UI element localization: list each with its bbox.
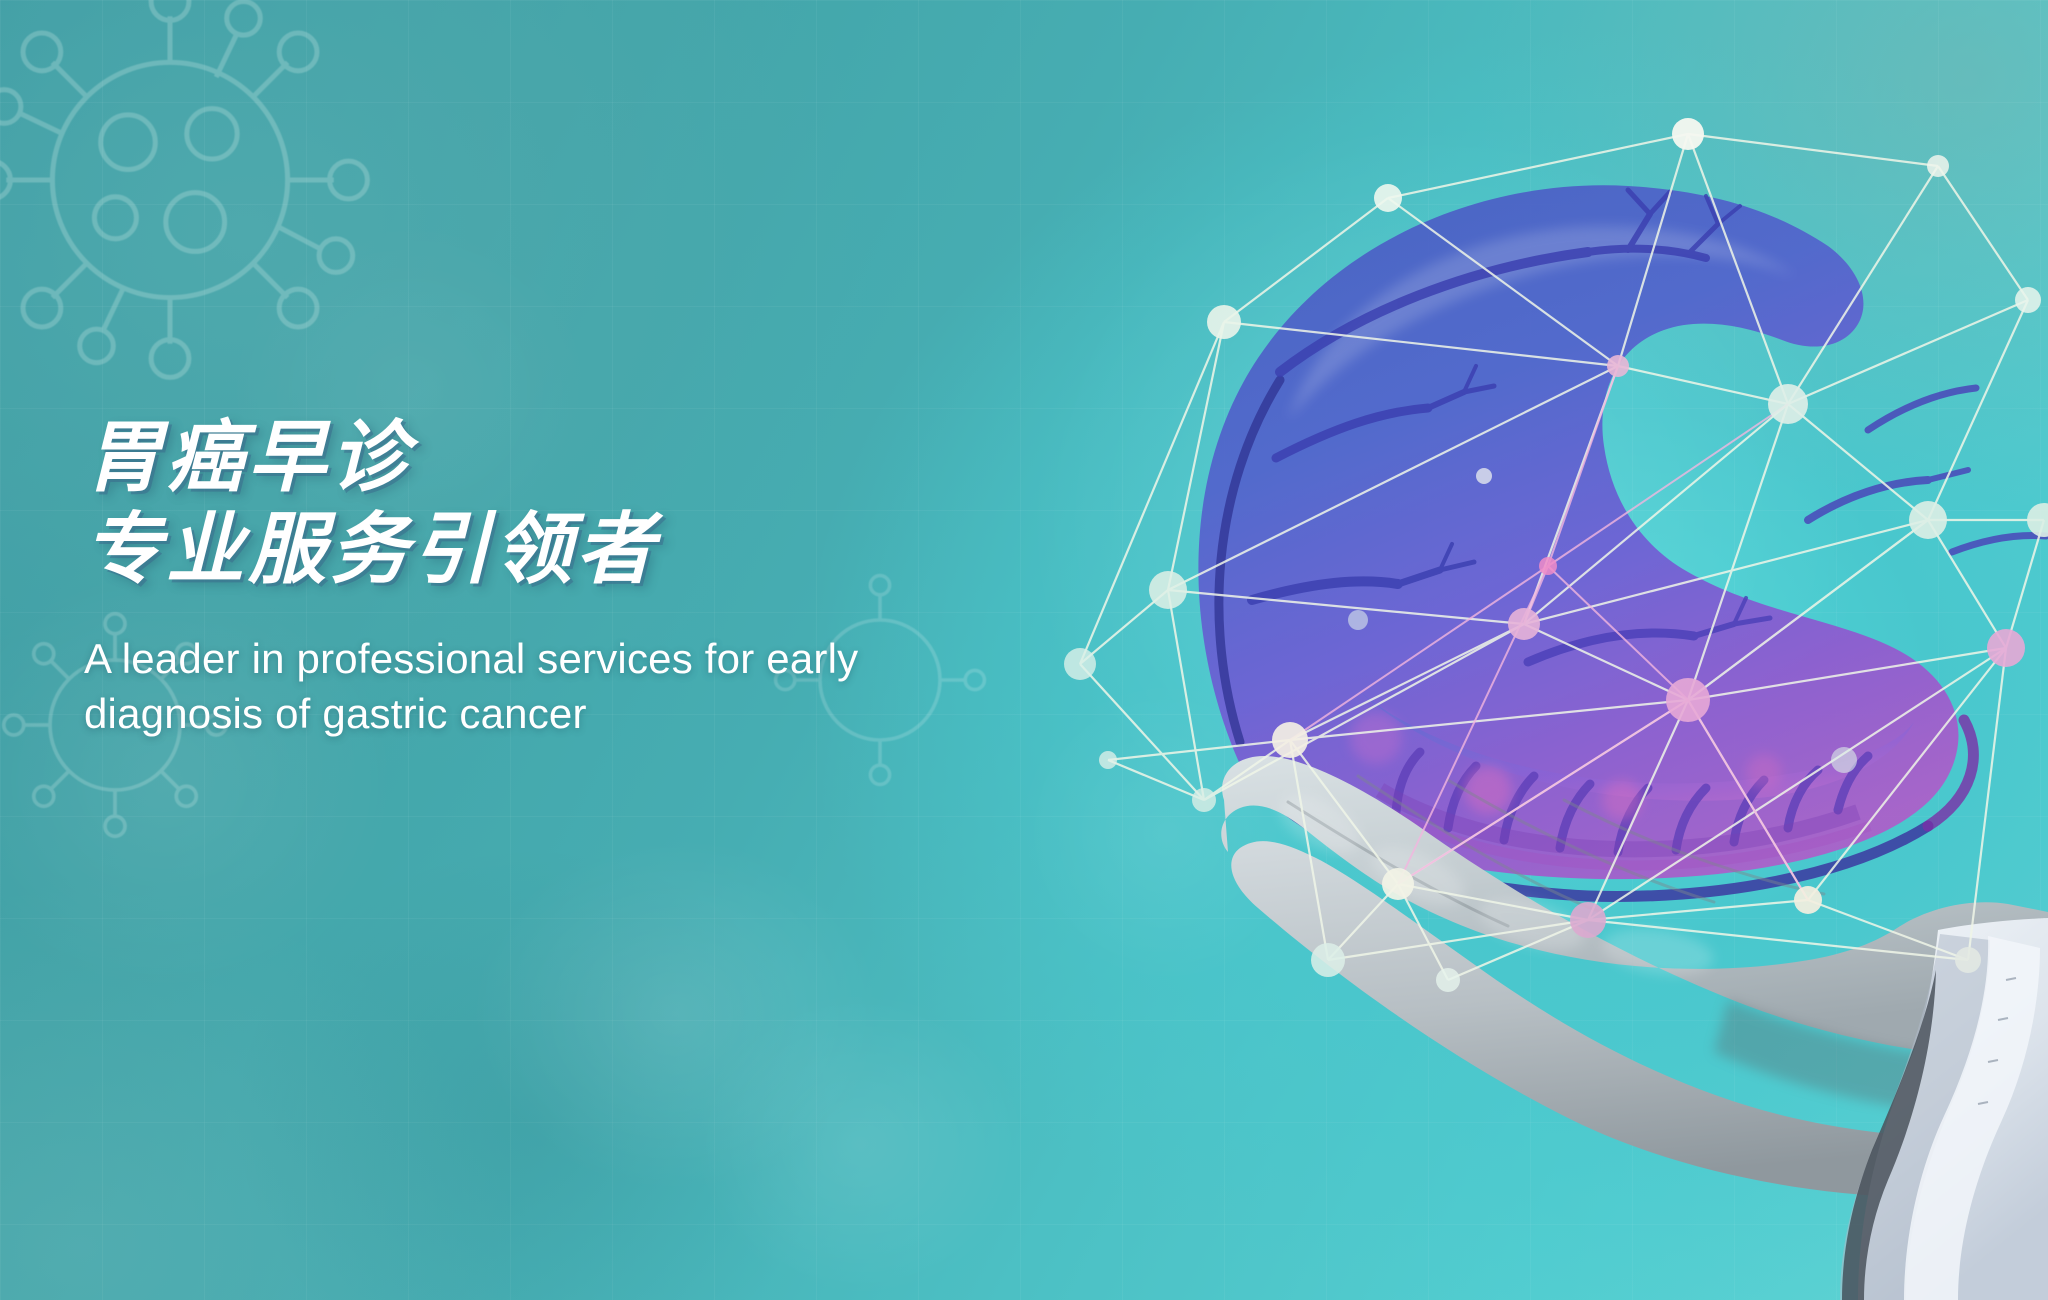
banner-root: 胃癌早诊 专业服务引领者 A leader in professional se…	[0, 0, 2048, 1300]
coronavirus-icon	[0, 0, 380, 370]
subheadline-line-1: A leader in professional services for ea…	[84, 632, 984, 687]
subheadline-line-2: diagnosis of gastric cancer	[84, 687, 984, 742]
headline-line-1: 胃癌早诊	[84, 418, 984, 496]
subheadline-block: A leader in professional services for ea…	[84, 632, 984, 741]
headline-line-2: 专业服务引领者	[84, 510, 984, 588]
headline-block: 胃癌早诊 专业服务引领者 A leader in professional se…	[84, 418, 984, 741]
